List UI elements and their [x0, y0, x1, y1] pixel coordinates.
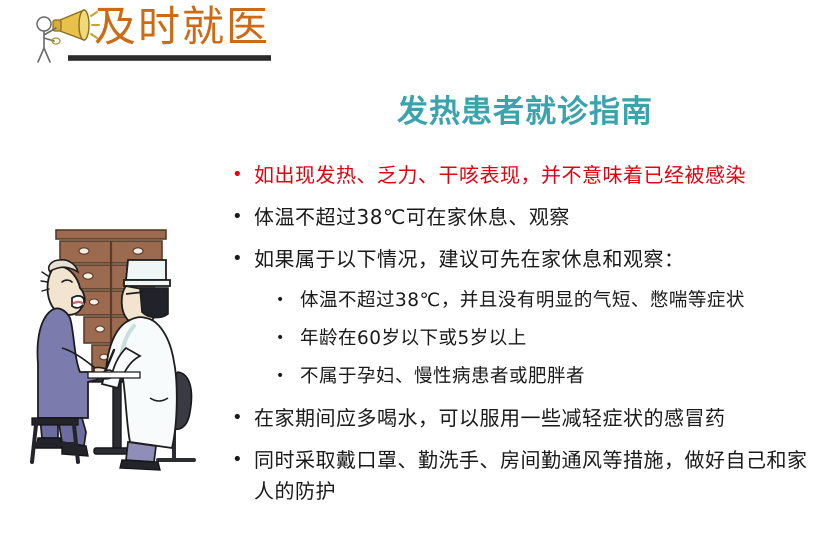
doctor-consulting-patient-illustration — [22, 222, 222, 474]
list-item-text: 体温不超过38℃可在家休息、观察 — [254, 202, 824, 233]
list-item: • 体温不超过38℃可在家休息、观察 — [232, 202, 824, 233]
list-item-text: 体温不超过38℃，并且没有明显的气短、憋喘等症状 — [300, 286, 824, 315]
list-item-text: 同时采取戴口罩、勤洗手、房间勤通风等措施，做好自己和家人的防护 — [254, 445, 824, 507]
list-item: • 同时采取戴口罩、勤洗手、房间勤通风等措施，做好自己和家人的防护 — [232, 445, 824, 507]
bullet-marker: • — [232, 160, 254, 190]
header-title: 及时就医 — [94, 2, 270, 52]
page-header: 及时就医 — [0, 0, 835, 72]
list-item-text: 在家期间应多喝水，可以服用一些减轻症状的感冒药 — [254, 403, 824, 434]
list-item: • 在家期间应多喝水，可以服用一些减轻症状的感冒药 — [232, 403, 824, 434]
list-item-text: 年龄在60岁以下或5岁以上 — [300, 324, 824, 353]
page-title: 发热患者就诊指南 — [397, 92, 653, 132]
header-divider — [68, 55, 271, 61]
list-item: • 不属于孕妇、慢性病患者或肥胖者 — [276, 362, 824, 391]
bullet-marker: • — [232, 445, 254, 475]
list-item-text: 如果属于以下情况，建议可先在家休息和观察： — [254, 244, 824, 275]
list-item: • 体温不超过38℃，并且没有明显的气短、憋喘等症状 — [276, 286, 824, 315]
list-item: • 如出现发热、乏力、干咳表现，并不意味着已经被感染 — [232, 160, 824, 191]
bullet-marker: • — [276, 286, 300, 315]
list-item: • 年龄在60岁以下或5岁以上 — [276, 324, 824, 353]
bullet-marker: • — [232, 244, 254, 274]
list-item: • 如果属于以下情况，建议可先在家休息和观察： — [232, 244, 824, 275]
bullet-marker: • — [276, 362, 300, 391]
list-item-text: 如出现发热、乏力、干咳表现，并不意味着已经被感染 — [254, 160, 824, 191]
bullet-marker: • — [232, 202, 254, 232]
bullet-marker: • — [276, 324, 300, 353]
guidance-bullet-list: • 如出现发热、乏力、干咳表现，并不意味着已经被感染 • 体温不超过38℃可在家… — [232, 160, 824, 518]
list-item-text: 不属于孕妇、慢性病患者或肥胖者 — [300, 362, 824, 391]
bullet-marker: • — [232, 403, 254, 433]
